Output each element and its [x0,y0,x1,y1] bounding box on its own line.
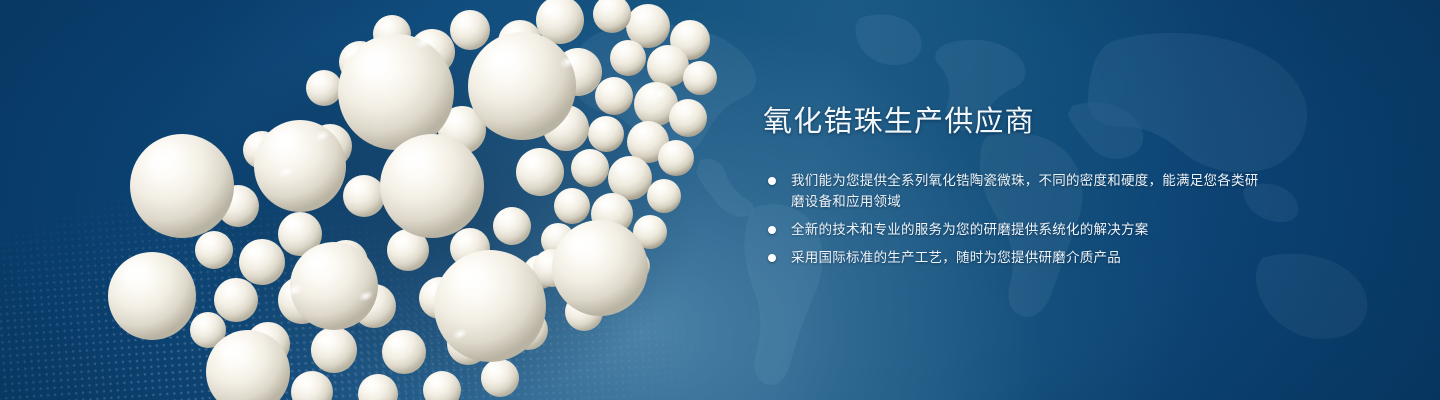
bullet-dot-icon [768,226,776,234]
list-item-label: 全新的技术和专业的服务为您的研磨提供系统化的解决方案 [791,219,1263,240]
banner-copy: 氧化锆珠生产供应商 我们能为您提供全系列氧化锆陶瓷微珠，不同的密度和硬度，能满足… [763,104,1263,268]
page-title: 氧化锆珠生产供应商 [763,104,1263,140]
hero-banner: 氧化锆珠生产供应商 我们能为您提供全系列氧化锆陶瓷微珠，不同的密度和硬度，能满足… [0,0,1440,400]
list-item-label: 我们能为您提供全系列氧化锆陶瓷微珠，不同的密度和硬度，能满足您各类研磨设备和应用… [791,170,1263,212]
bullet-dot-icon [768,254,776,262]
list-item: 采用国际标准的生产工艺，随时为您提供研磨介质产品 [763,247,1263,268]
feature-list: 我们能为您提供全系列氧化锆陶瓷微珠，不同的密度和硬度，能满足您各类研磨设备和应用… [763,170,1263,268]
list-item: 我们能为您提供全系列氧化锆陶瓷微珠，不同的密度和硬度，能满足您各类研磨设备和应用… [763,170,1263,212]
list-item: 全新的技术和专业的服务为您的研磨提供系统化的解决方案 [763,219,1263,240]
bullet-dot-icon [768,177,776,185]
list-item-label: 采用国际标准的生产工艺，随时为您提供研磨介质产品 [791,247,1263,268]
